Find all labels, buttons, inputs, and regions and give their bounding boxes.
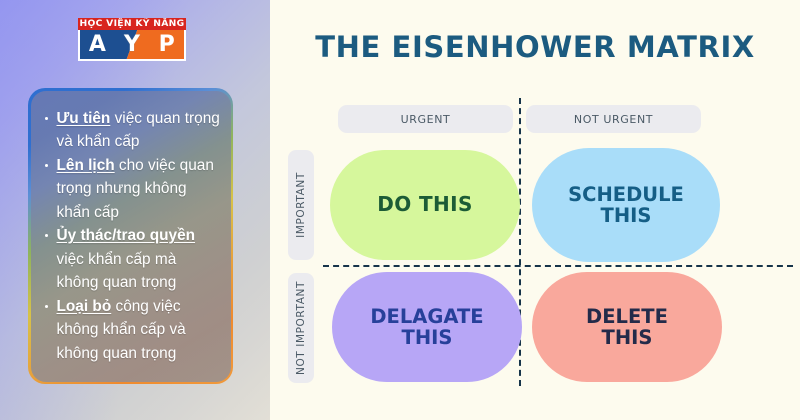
quadrant-line-1: DO THIS (377, 192, 473, 216)
row-header-important: IMPORTANT (288, 150, 314, 260)
quadrant-line-2: THIS (586, 327, 668, 348)
row-header-not-important: NOT IMPORTANT (288, 273, 314, 383)
list-item: Ưu tiên việc quan trọng và khẩn cấp (41, 107, 221, 154)
quadrant-line-2: THIS (370, 327, 483, 348)
horizontal-divider (323, 265, 793, 267)
quadrant-line-1: DELAGATE (370, 305, 483, 328)
list-item-lead: Loại bỏ (57, 298, 112, 315)
logo-letters: A Y P (78, 30, 186, 61)
matrix-panel: THE EISENHOWER MATRIX URGENT NOT URGENT … (270, 0, 800, 420)
quadrant-delete-this-text: DELETE THIS (586, 306, 668, 348)
quadrant-schedule-this: SCHEDULE THIS (532, 148, 720, 262)
list-item-lead: Lên lịch (57, 157, 115, 174)
list-item: Loại bỏ công việc không khẩn cấp và khôn… (41, 295, 221, 366)
logo-letter-p: P (149, 30, 184, 59)
bullet-card: Ưu tiên việc quan trọng và khẩn cấp Lên … (28, 88, 233, 384)
quadrant-delete-this: DELETE THIS (532, 272, 722, 382)
slide-root: HỌC VIỆN KỸ NĂNG A Y P Ưu tiên việc quan… (0, 0, 800, 420)
list-item: Ủy thác/trao quyền việc khẩn cấp mà khôn… (41, 224, 221, 295)
quadrant-line-1: SCHEDULE (568, 183, 684, 206)
logo-letter-y-text: Y (124, 34, 140, 56)
list-item: Lên lịch cho việc quan trọng nhưng không… (41, 154, 221, 225)
list-item-rest: việc khẩn cấp mà không quan trọng (57, 251, 177, 292)
list-item-lead: Ủy thác/trao quyền (57, 227, 196, 244)
page-title: THE EISENHOWER MATRIX (270, 30, 800, 64)
column-header-not-urgent: NOT URGENT (526, 105, 701, 133)
logo-letter-y: Y (115, 30, 150, 59)
row-header-important-label: IMPORTANT (295, 172, 307, 238)
quadrant-line-2: THIS (568, 205, 684, 226)
quadrant-do-this-text: DO THIS (377, 194, 473, 216)
quadrant-delegate-this-text: DELAGATE THIS (370, 306, 483, 348)
quadrant-delegate-this: DELAGATE THIS (332, 272, 522, 382)
column-header-urgent: URGENT (338, 105, 513, 133)
list-item-lead: Ưu tiên (57, 110, 111, 127)
logo-banner-text: HỌC VIỆN KỸ NĂNG (78, 18, 186, 30)
quadrant-line-1: DELETE (586, 305, 668, 328)
bullet-card-inner: Ưu tiên việc quan trọng và khẩn cấp Lên … (31, 91, 231, 382)
row-header-not-important-label: NOT IMPORTANT (295, 281, 307, 375)
ayp-logo: HỌC VIỆN KỸ NĂNG A Y P (78, 18, 186, 61)
left-panel: HỌC VIỆN KỸ NĂNG A Y P Ưu tiên việc quan… (0, 0, 270, 420)
quadrant-schedule-this-text: SCHEDULE THIS (568, 184, 684, 226)
quadrant-do-this: DO THIS (330, 150, 520, 260)
bullet-list: Ưu tiên việc quan trọng và khẩn cấp Lên … (41, 107, 221, 366)
logo-letter-a: A (80, 30, 115, 59)
